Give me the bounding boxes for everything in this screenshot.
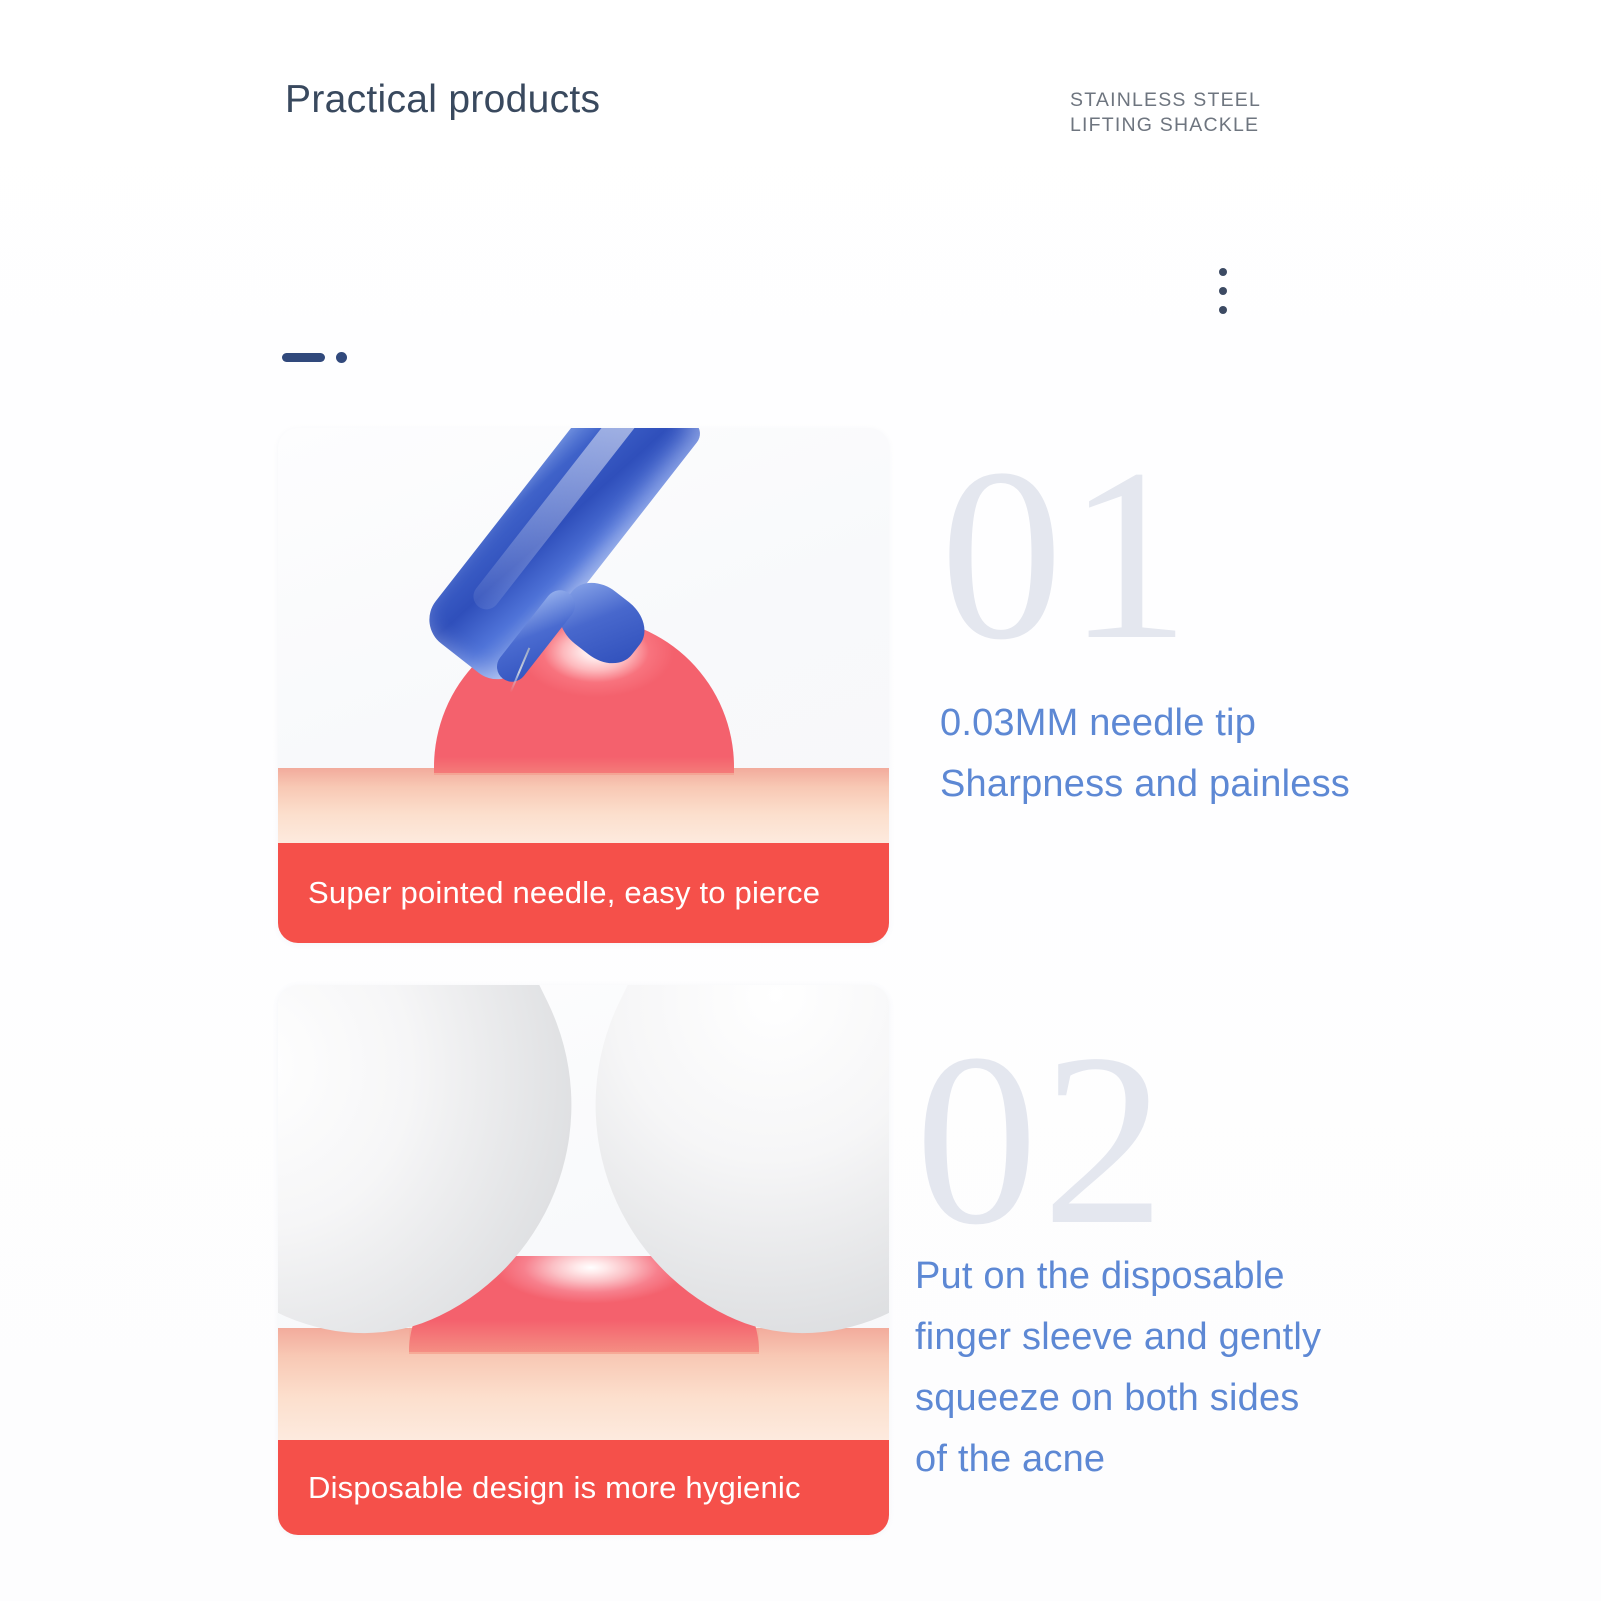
feature-description-01: 0.03MM needle tip Sharpness and painless	[940, 693, 1500, 815]
page-title: Practical products	[285, 78, 600, 122]
feature-side-01: 01 0.03MM needle tip Sharpness and painl…	[940, 455, 1500, 815]
brand-tagline-line-1: STAINLESS STEEL	[1070, 88, 1300, 113]
kebab-dot-top	[1219, 268, 1227, 276]
feature-caption-text-01: Super pointed needle, easy to pierce	[308, 875, 820, 911]
feature-description-01-line-1: 0.03MM needle tip	[940, 693, 1500, 754]
feature-description-02-line-2: finger sleeve and gently	[915, 1307, 1485, 1368]
section-indicator	[282, 352, 347, 363]
feature-card-02: Disposable design is more hygienic	[278, 985, 889, 1535]
feature-caption-band-02: Disposable design is more hygienic	[278, 1440, 889, 1535]
feature-number-02: 02	[915, 1040, 1485, 1242]
feature-card-01: Super pointed needle, easy to pierce	[278, 428, 889, 943]
kebab-dot-bottom	[1219, 306, 1227, 314]
feature-description-02-line-1: Put on the disposable	[915, 1246, 1485, 1307]
product-feature-page: Practical products STAINLESS STEEL LIFTI…	[0, 0, 1601, 1601]
illustration-finger-sleeves	[278, 985, 889, 1440]
kebab-dot-middle	[1219, 287, 1227, 295]
feature-description-02: Put on the disposable finger sleeve and …	[915, 1246, 1485, 1490]
dash-indicator	[282, 353, 325, 362]
feature-block-02: Disposable design is more hygienic	[278, 985, 889, 1535]
feature-number-01: 01	[940, 455, 1500, 657]
more-vertical-icon[interactable]	[1216, 268, 1230, 314]
feature-caption-band-01: Super pointed needle, easy to pierce	[278, 843, 889, 943]
feature-block-01: Super pointed needle, easy to pierce	[278, 428, 889, 943]
illustration-syringe-needle	[278, 428, 889, 843]
brand-tagline-line-2: LIFTING SHACKLE	[1070, 113, 1300, 138]
feature-description-02-line-3: squeeze on both sides	[915, 1368, 1485, 1429]
feature-caption-text-02: Disposable design is more hygienic	[308, 1470, 801, 1506]
feature-description-02-line-4: of the acne	[915, 1429, 1485, 1490]
feature-description-01-line-2: Sharpness and painless	[940, 754, 1500, 815]
needle-barrel	[417, 428, 705, 691]
feature-side-02: 02 Put on the disposable finger sleeve a…	[915, 1040, 1485, 1490]
dot-indicator	[336, 352, 347, 363]
syringe-needle-icon	[489, 428, 889, 824]
brand-tagline: STAINLESS STEEL LIFTING SHACKLE	[1070, 88, 1300, 138]
